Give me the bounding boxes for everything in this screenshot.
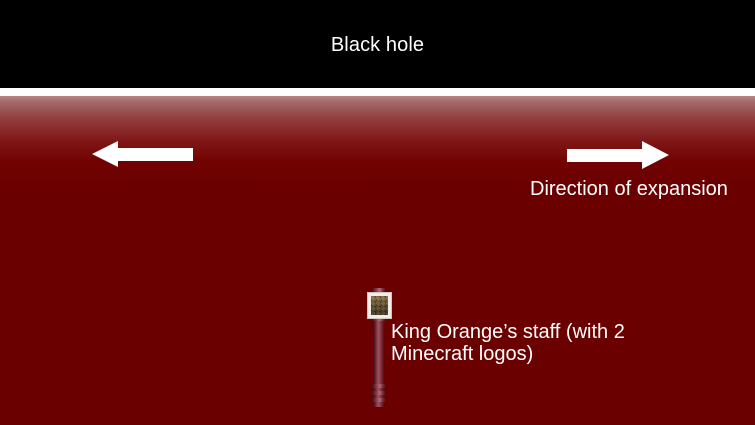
staff-ring-lower-2 xyxy=(372,391,386,395)
black-hole-label: Black hole xyxy=(0,33,755,57)
staff-label-line-2: Minecraft logos) xyxy=(391,343,641,365)
direction-of-expansion-label: Direction of expansion xyxy=(530,178,728,200)
staff-head-frame xyxy=(367,292,392,319)
left-arrow-icon xyxy=(92,140,193,168)
staff-label: King Orange’s staff (with 2 Minecraft lo… xyxy=(391,321,641,365)
right-arrow-icon xyxy=(567,140,669,168)
staff-label-line-1: King Orange’s staff (with 2 xyxy=(391,321,641,343)
staff-ring-lower-1 xyxy=(372,384,386,388)
event-horizon-line xyxy=(0,88,755,96)
staff-ring-lower-3 xyxy=(372,398,386,402)
black-hole-diagram: Black hole Direction of expansion King O… xyxy=(0,0,755,425)
minecraft-block-texture-icon xyxy=(371,296,388,315)
